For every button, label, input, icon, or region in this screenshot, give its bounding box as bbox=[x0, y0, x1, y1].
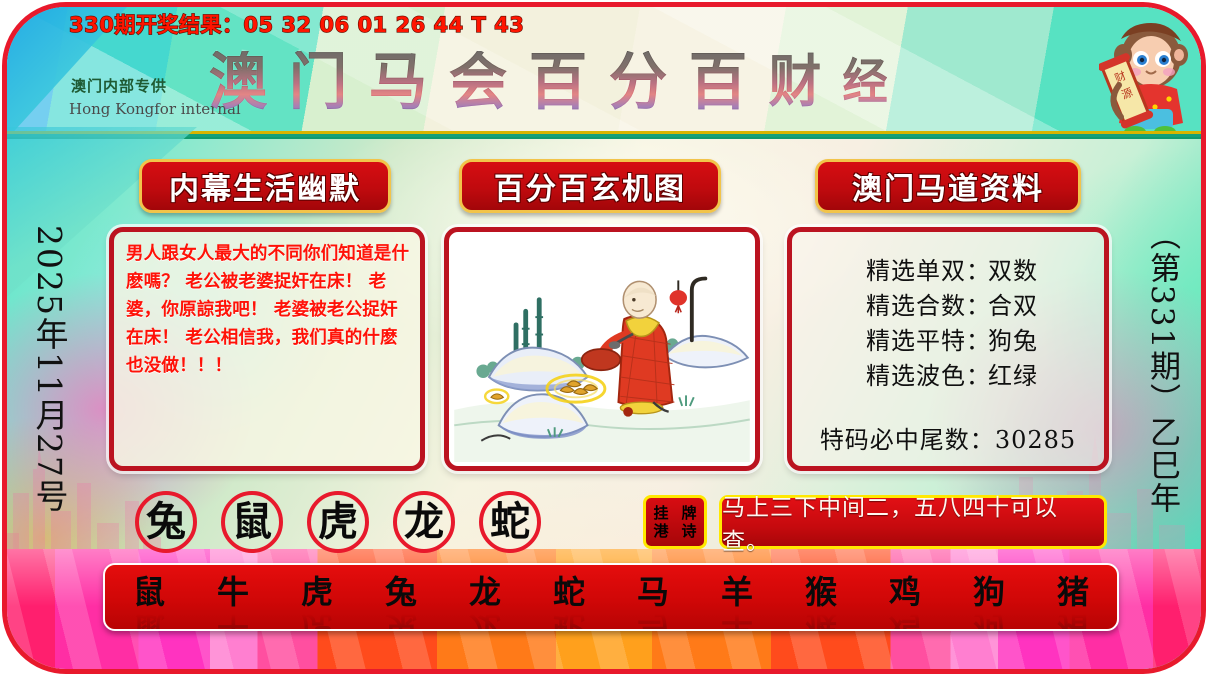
poem-phrase: 马上三下中间二，五八四十可以查。 bbox=[719, 495, 1107, 549]
zodiac-item-reflection: 马 bbox=[623, 611, 683, 631]
data-list: 精选单双 ： 双数 精选合数 ： 合双 精选平特 ： 狗兔 精选波色 ： bbox=[792, 232, 1104, 455]
zodiac-item-reflection: 龙 bbox=[455, 611, 515, 631]
data-row: 精选波色 ： 红绿 bbox=[792, 359, 1104, 394]
zodiac-item-reflection: 猪 bbox=[1043, 611, 1103, 631]
zodiac-item[interactable]: 虎 bbox=[287, 575, 347, 609]
zodiac-item[interactable]: 兔 bbox=[371, 575, 431, 609]
data-value: 双数 bbox=[988, 254, 1080, 289]
data-key: 精选波色 bbox=[816, 359, 966, 394]
title-char: 经 bbox=[843, 51, 888, 113]
zodiac-row-reflection: 鼠 牛 虎 兔 龙 蛇 马 羊 猴 鸡 狗 猪 bbox=[119, 611, 1103, 631]
pick-item[interactable]: 兔 bbox=[135, 491, 197, 553]
title-char: 会 bbox=[449, 51, 507, 113]
zodiac-item-reflection: 蛇 bbox=[539, 611, 599, 631]
header: 330期开奖结果：05 32 06 01 26 44 T 43 澳门内部专供 H… bbox=[7, 7, 1201, 139]
data-value: 狗兔 bbox=[988, 324, 1080, 359]
zodiac-item[interactable]: 蛇 bbox=[539, 575, 599, 609]
data-separator: ： bbox=[966, 254, 988, 289]
zodiac-item-reflection: 牛 bbox=[203, 611, 263, 631]
title-char: 马 bbox=[369, 51, 427, 113]
data-key: 精选合数 bbox=[816, 289, 966, 324]
zodiac-row: 鼠 牛 虎 兔 龙 蛇 马 羊 猴 鸡 狗 猪 bbox=[119, 575, 1103, 609]
title-char: 澳 bbox=[209, 51, 267, 113]
tag-char: 牌 bbox=[681, 504, 696, 522]
pick-item[interactable]: 虎 bbox=[307, 491, 369, 553]
zodiac-item[interactable]: 狗 bbox=[959, 575, 1019, 609]
title-char: 分 bbox=[609, 51, 667, 113]
bottom-margin bbox=[0, 674, 1208, 682]
pick-item[interactable]: 鼠 bbox=[221, 491, 283, 553]
banner-picture[interactable]: 百分百玄机图 bbox=[459, 159, 721, 213]
zodiac-item[interactable]: 羊 bbox=[707, 575, 767, 609]
poster-root: 330期开奖结果：05 32 06 01 26 44 T 43 澳门内部专供 H… bbox=[0, 0, 1208, 682]
zodiac-item-reflection: 鼠 bbox=[119, 611, 179, 631]
site-title: 澳 门 马 会 百 分 百 财 经 bbox=[207, 51, 889, 113]
poster-frame: 330期开奖结果：05 32 06 01 26 44 T 43 澳门内部专供 H… bbox=[2, 2, 1206, 674]
zodiac-item[interactable]: 猴 bbox=[791, 575, 851, 609]
zodiac-item[interactable]: 鸡 bbox=[875, 575, 935, 609]
zodiac-item[interactable]: 马 bbox=[623, 575, 683, 609]
zodiac-item-reflection: 狗 bbox=[959, 611, 1019, 631]
issue-number: （第331期）乙巳年 bbox=[1140, 219, 1185, 515]
zodiac-item-reflection: 虎 bbox=[287, 611, 347, 631]
tail-number-value: 30285 bbox=[995, 426, 1076, 454]
zodiac-item[interactable]: 龙 bbox=[455, 575, 515, 609]
data-separator: ： bbox=[966, 324, 988, 359]
data-row: 精选合数 ： 合双 bbox=[792, 289, 1104, 324]
tail-number-row: 特码必中尾数：30285 bbox=[792, 420, 1104, 455]
header-divider-under bbox=[7, 137, 1201, 139]
data-separator: ： bbox=[966, 359, 988, 394]
brand-name-cn: 澳门内部专供 bbox=[71, 75, 167, 96]
pick-item[interactable]: 龙 bbox=[393, 491, 455, 553]
data-separator: ： bbox=[966, 289, 988, 324]
title-char: 百 bbox=[689, 51, 747, 113]
data-card: 精选单双 ： 双数 精选合数 ： 合双 精选平特 ： 狗兔 精选波色 ： bbox=[787, 227, 1109, 471]
data-row: 精选平特 ： 狗兔 bbox=[792, 324, 1104, 359]
tag-char: 挂 bbox=[653, 504, 668, 522]
mystery-picture-card[interactable] bbox=[444, 227, 760, 471]
data-key: 精选平特 bbox=[816, 324, 966, 359]
tag-char: 诗 bbox=[681, 522, 696, 540]
draw-result-text: 330期开奖结果：05 32 06 01 26 44 T 43 bbox=[69, 9, 524, 39]
tail-number-label: 特码必中尾数： bbox=[820, 426, 995, 454]
pick-item[interactable]: 蛇 bbox=[479, 491, 541, 553]
guapai-tag-badge[interactable]: 挂 牌 港 诗 bbox=[643, 495, 707, 549]
data-row: 精选单双 ： 双数 bbox=[792, 254, 1104, 289]
data-value: 红绿 bbox=[988, 359, 1080, 394]
title-char: 财 bbox=[769, 51, 822, 113]
zodiac-item-reflection: 鸡 bbox=[875, 611, 935, 631]
data-key: 精选单双 bbox=[816, 254, 966, 289]
zodiac-item-reflection: 兔 bbox=[371, 611, 431, 631]
joke-card: 男人跟女人最大的不同你们知道是什麽嗎？ 老公被老婆捉奸在床！ 老婆，你原諒我吧！… bbox=[109, 227, 425, 471]
zodiac-item[interactable]: 牛 bbox=[203, 575, 263, 609]
pick-list: 兔 鼠 虎 龙 蛇 bbox=[135, 491, 541, 553]
zodiac-item[interactable]: 鼠 bbox=[119, 575, 179, 609]
title-char: 门 bbox=[289, 51, 347, 113]
zodiac-item-reflection: 猴 bbox=[791, 611, 851, 631]
title-char: 百 bbox=[529, 51, 587, 113]
zodiac-bar: 鼠 牛 虎 兔 龙 蛇 马 羊 猴 鸡 狗 猪 鼠 牛 虎 兔 龙 蛇 马 bbox=[103, 563, 1119, 631]
issue-date: 2025年11月27号 bbox=[25, 225, 73, 514]
monkey-mascot-icon: 财 源 bbox=[1099, 15, 1195, 139]
banner-joke[interactable]: 内幕生活幽默 bbox=[139, 159, 391, 213]
banner-data[interactable]: 澳门马道资料 bbox=[815, 159, 1081, 213]
joke-text: 男人跟女人最大的不同你们知道是什麽嗎？ 老公被老婆捉奸在床！ 老婆，你原諒我吧！… bbox=[114, 232, 420, 380]
tag-char: 港 bbox=[653, 522, 668, 540]
mystery-illustration bbox=[453, 236, 751, 462]
data-value: 合双 bbox=[988, 289, 1080, 324]
zodiac-item[interactable]: 猪 bbox=[1043, 575, 1103, 609]
zodiac-item-reflection: 羊 bbox=[707, 611, 767, 631]
